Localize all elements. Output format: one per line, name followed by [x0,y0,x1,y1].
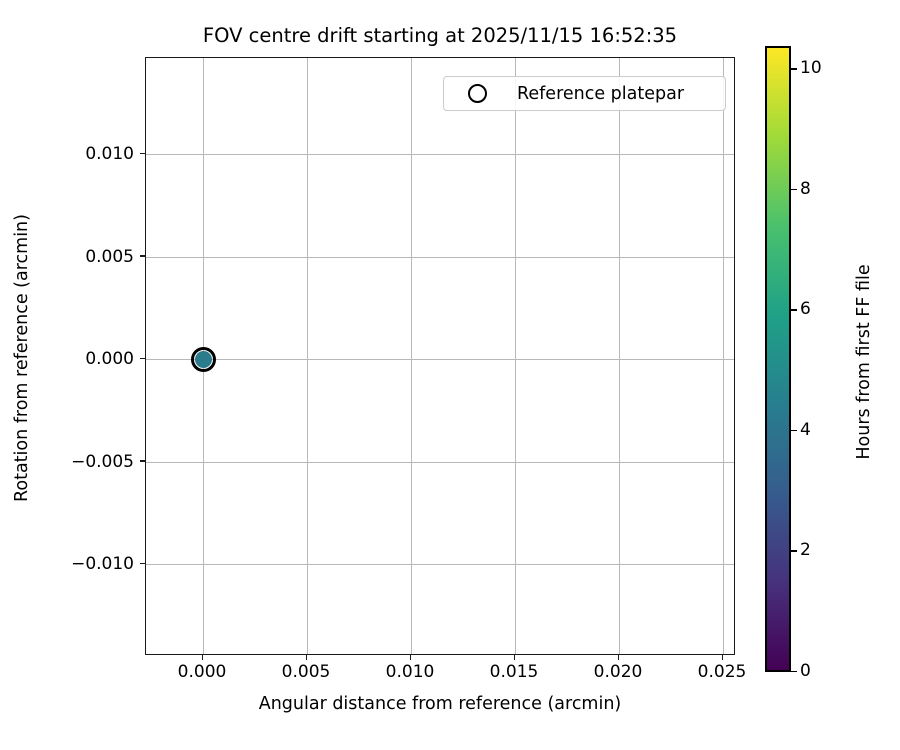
x-tick [618,655,620,660]
colorbar-tick [791,671,797,673]
gridline-horizontal [146,154,734,155]
x-tick [410,655,412,660]
colorbar-tick-label: 4 [800,420,811,440]
colorbar-tick [791,550,797,552]
x-tick-label: 0.015 [469,662,559,682]
colorbar-tick-label: 0 [800,661,811,681]
y-tick-label: −0.010 [22,554,134,574]
y-tick-label: −0.005 [22,452,134,472]
colorbar[interactable] [765,46,791,672]
gridline-horizontal [146,462,734,463]
page-title: FOV centre drift starting at 2025/11/15 … [145,24,735,47]
gridline-horizontal [146,564,734,565]
gridline-horizontal [146,257,734,258]
colorbar-label: Hours from first FF file [854,82,874,642]
x-tick-label: 0.025 [677,662,767,682]
colorbar-tick-label: 2 [800,540,811,560]
colorbar-tick [791,68,797,70]
legend-item-label: Reference platepar [517,84,684,104]
colorbar-tick-label: 6 [800,299,811,319]
y-tick [140,358,145,360]
matplotlib-figure: FOV centre drift starting at 2025/11/15 … [0,0,900,750]
legend-circle-icon [468,84,487,103]
y-tick-label: 0.010 [22,144,134,164]
x-tick [306,655,308,660]
y-tick-label: 0.005 [22,247,134,267]
x-tick [514,655,516,660]
y-tick [140,255,145,257]
colorbar-tick-label: 8 [800,179,811,199]
y-tick [140,153,145,155]
y-tick [140,563,145,565]
x-tick-label: 0.000 [157,662,247,682]
plot-axes [145,57,735,655]
y-tick-label: 0.000 [22,349,134,369]
x-tick-label: 0.010 [365,662,455,682]
gridline-horizontal [146,359,734,360]
colorbar-tick [791,309,797,311]
reference-platepar-marker[interactable] [191,347,216,372]
legend[interactable]: Reference platepar [443,76,726,111]
x-tick [202,655,204,660]
x-tick [722,655,724,660]
colorbar-tick-label: 10 [800,58,822,78]
colorbar-tick [791,189,797,191]
x-axis-label: Angular distance from reference (arcmin) [145,694,735,714]
y-axis-label: Rotation from reference (arcmin) [12,58,32,658]
colorbar-tick [791,430,797,432]
y-tick [140,460,145,462]
x-tick-label: 0.020 [573,662,663,682]
x-tick-label: 0.005 [261,662,351,682]
